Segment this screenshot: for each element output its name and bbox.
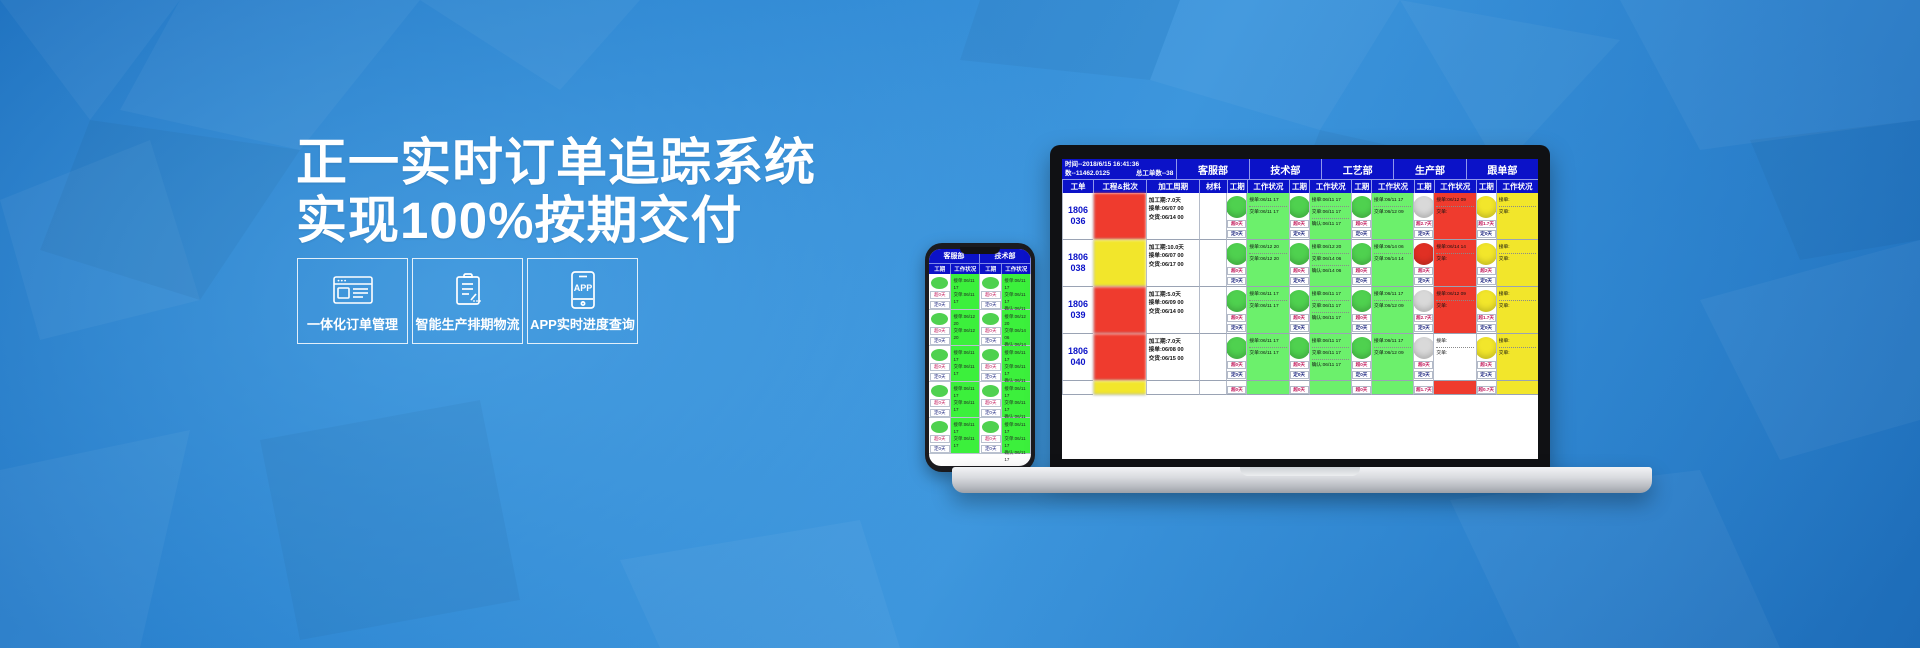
duration-cell: 超0.7天定1天 — [1476, 381, 1496, 395]
grid-column-label[interactable]: 工程&批次 — [1093, 180, 1146, 193]
cycle-line: 接单:06/08 00 — [1149, 346, 1197, 354]
feature-label: 一体化订单管理 — [307, 314, 398, 333]
duration-cell: 超0天定1天 — [1226, 381, 1246, 395]
status-badge: 超0天 — [1414, 361, 1433, 369]
status-line: 交单:06/12 09 — [1374, 303, 1411, 312]
status-line: 确认:06/11 17 — [1312, 221, 1349, 230]
order-tracking-grid: 时间--2018/6/15 16:41:36 数--11462.0125 总工单… — [1062, 159, 1538, 395]
status-dot-icon — [1289, 196, 1309, 218]
status-line: 交单:06/12 20 — [1249, 256, 1286, 265]
status-badge: 超0天 — [1290, 386, 1309, 394]
duration-cell: 超0天定4天 — [1289, 381, 1309, 395]
status-badge: 定0天 — [1227, 230, 1246, 238]
duration-cell: 超0天定0天 — [1289, 287, 1309, 334]
status-badge: 超3天 — [1414, 267, 1433, 275]
status-line: 交单:06/11 17 — [953, 291, 977, 305]
grid-column-label[interactable]: 工期 — [1476, 180, 1496, 193]
cycle-line: 加工期:7.0天 — [1149, 338, 1197, 346]
status-badge: 超0天 — [1352, 220, 1371, 228]
status-dot-icon — [1226, 243, 1246, 265]
grid-department-header: 客服部技术部工艺部生产部跟单部 — [1176, 159, 1538, 179]
status-line: 交单:06/11 17 — [1312, 209, 1349, 219]
material-cell[interactable] — [1199, 240, 1226, 287]
status-line: 接单: — [1499, 291, 1536, 301]
processing-cycle-cell: 加工期:10.0天接单:06/07 00交货:06/17 00 — [1146, 240, 1199, 287]
status-badge: 超0天 — [1227, 386, 1246, 394]
work-status-cell[interactable]: 接单:06/11 17交单:06/11 17 — [1246, 193, 1288, 240]
status-line: 确认:06/11 17 — [1312, 362, 1349, 371]
cycle-line: 加工期:7.0天 — [1149, 197, 1197, 205]
status-badge: 定0天 — [930, 445, 950, 453]
duration-cell: 超0天定0天 — [1226, 287, 1246, 334]
status-dot-icon — [1476, 196, 1496, 218]
work-status-cell[interactable]: 接单:06/11 17交单:06/12 09 — [1371, 334, 1413, 381]
duration-cell: 超0天定0天 — [1413, 334, 1433, 381]
status-line: 交单:06/11 17 — [1249, 350, 1286, 359]
status-badge: 定0天 — [930, 301, 950, 309]
material-cell[interactable] — [1199, 334, 1226, 381]
status-badge: 定0天 — [1477, 230, 1496, 238]
status-line: 接单:06/11 17 — [1374, 291, 1411, 301]
feature-card-app-progress[interactable]: APP APP实时进度查询 — [527, 258, 638, 344]
project-batch-cell[interactable] — [1093, 240, 1146, 287]
work-status-cell[interactable] — [1309, 381, 1351, 395]
status-badge: 超0天 — [1227, 220, 1246, 228]
work-status-cell[interactable]: 接单:06/12 09交单: — [1433, 193, 1475, 240]
status-badge: 超0天 — [930, 291, 950, 299]
grid-column-label[interactable]: 工期 — [1289, 180, 1309, 193]
status-dot-icon — [1226, 337, 1246, 359]
status-line: 交单:06/12 09 — [1374, 350, 1411, 359]
status-badge: 超0天 — [1227, 267, 1246, 275]
status-badge: 超0天 — [981, 291, 1001, 299]
status-badge: 超0天 — [1352, 267, 1371, 275]
grid-dept-label: 生产部 — [1393, 159, 1465, 179]
work-status-cell[interactable]: 接单:06/11 17交单:06/11 17 — [1246, 287, 1288, 334]
status-dot-icon — [1476, 243, 1496, 265]
status-badge: 定0天 — [981, 409, 1001, 417]
status-badge: 超0天 — [1227, 314, 1246, 322]
workorder-cell[interactable]: 1806040 — [1062, 334, 1093, 381]
grid-column-label[interactable]: 工单 — [1062, 180, 1093, 193]
workorder-cell[interactable] — [1062, 381, 1093, 395]
work-status-cell[interactable]: 接单:06/11 17交单:06/12 09 — [1371, 287, 1413, 334]
status-line: 接单:06/11 17 — [953, 349, 977, 363]
work-status-cell[interactable] — [1246, 381, 1288, 395]
duration-cell: 超0天定0天 — [1351, 287, 1371, 334]
headline-line-2: 实现100%按期交付 — [296, 192, 976, 250]
status-line: 接单:06/11 17 — [1249, 338, 1286, 348]
cycle-line: 交货:06/14 00 — [1149, 308, 1197, 316]
status-dot-icon — [1351, 290, 1371, 312]
work-status-cell[interactable] — [1371, 381, 1413, 395]
status-badge: 超2天 — [1477, 267, 1496, 275]
status-line: 交单:06/12 20 — [953, 327, 977, 341]
status-badge: 定0天 — [981, 445, 1001, 453]
phone-app-icon: APP — [569, 270, 597, 310]
project-batch-cell[interactable] — [1093, 193, 1146, 240]
grid-dept-label: 客服部 — [1176, 159, 1248, 179]
workorder-prefix: 1806 — [1068, 205, 1088, 216]
status-dot-icon — [931, 421, 948, 433]
status-badge: 定0天 — [1290, 277, 1309, 285]
status-line: 交单: — [1499, 350, 1536, 359]
status-badge: 定0天 — [1477, 277, 1496, 285]
status-line: 接单:06/11 17 — [1312, 197, 1349, 207]
grid-total-label: 总工单数--38 — [1136, 169, 1174, 178]
work-status-cell[interactable]: 接单:06/14 14交单: — [1433, 240, 1475, 287]
grid-column-label[interactable]: 工期 — [1351, 180, 1371, 193]
clipboard-icon — [452, 270, 484, 310]
grid-column-label[interactable]: 工作状况 — [1434, 180, 1476, 193]
status-dot-icon — [931, 277, 948, 289]
workorder-prefix: 1806 — [1068, 346, 1088, 357]
cycle-line: 接单:06/07 00 — [1149, 252, 1197, 260]
status-badge: 超0天 — [981, 363, 1001, 371]
status-dot-icon — [1413, 196, 1433, 218]
status-badge: 超0.7天 — [1477, 386, 1496, 394]
status-badge: 超0天 — [1290, 361, 1309, 369]
status-badge: 定0天 — [1414, 371, 1433, 379]
status-line: 接单:06/11 17 — [953, 385, 977, 399]
grid-column-label[interactable]: 工作状况 — [1247, 180, 1289, 193]
status-badge: 定0天 — [930, 373, 950, 381]
status-dot-icon — [1351, 337, 1371, 359]
svg-text:APP: APP — [573, 283, 592, 293]
status-badge: 定0天 — [1352, 371, 1371, 379]
status-badge: 超0天 — [1290, 220, 1309, 228]
duration-cell: 超0天定0天 — [1351, 240, 1371, 287]
work-status-cell[interactable] — [1433, 381, 1475, 395]
phone-sub-label: 工作状况 — [951, 263, 980, 274]
duration-cell: 超0天定1天 — [1351, 381, 1371, 395]
grid-meta: 时间--2018/6/15 16:41:36 数--11462.0125 总工单… — [1062, 159, 1176, 179]
status-dot-icon — [982, 421, 999, 433]
status-dot-icon — [1289, 337, 1309, 359]
phone-duration-cell: 超0天定0天 — [929, 382, 951, 418]
status-line: 接单:06/11 17 — [1374, 197, 1411, 207]
status-line: 确认:06/14 06 — [1312, 268, 1349, 277]
status-badge: 定0天 — [1352, 324, 1371, 332]
workorder-cell[interactable]: 1806036 — [1062, 193, 1093, 240]
feature-card-order-management[interactable]: 一体化订单管理 — [297, 258, 408, 344]
status-dot-icon — [931, 349, 948, 361]
cycle-line: 加工期:5.0天 — [1149, 291, 1197, 299]
status-badge: 定0天 — [1414, 277, 1433, 285]
status-line: 接单: — [1499, 244, 1536, 254]
status-dot-icon — [982, 313, 999, 325]
feature-label: APP实时进度查询 — [530, 314, 635, 333]
status-line: 交单:06/11 17 — [953, 363, 977, 377]
duration-cell: 超1.7天定0天 — [1476, 193, 1496, 240]
status-line: 接单:06/11 17 — [1312, 291, 1349, 301]
work-status-cell[interactable]: 接单:交单: — [1496, 334, 1538, 381]
status-badge: 定0天 — [1290, 371, 1309, 379]
cycle-line: 交货:06/14 00 — [1149, 214, 1197, 222]
status-badge: 定0天 — [930, 337, 950, 345]
status-badge: 定0天 — [1227, 277, 1246, 285]
status-line: 接单:06/11 17 — [953, 277, 977, 291]
duration-cell: 超1.7天定0天 — [1476, 287, 1496, 334]
status-badge: 超0天 — [1352, 361, 1371, 369]
project-batch-cell[interactable] — [1093, 287, 1146, 334]
status-line: 交单:06/11 17 — [1312, 303, 1349, 313]
status-badge: 超0天 — [1352, 314, 1371, 322]
feature-card-production-scheduling[interactable]: 智能生产排期物流 — [412, 258, 523, 344]
status-badge: 定0天 — [1227, 324, 1246, 332]
duration-cell: 超2天定0天 — [1476, 240, 1496, 287]
status-line: 交单:06/11 17 — [1249, 303, 1286, 312]
status-badge: 定0天 — [981, 337, 1001, 345]
status-dot-icon — [1226, 196, 1246, 218]
work-status-cell[interactable]: 接单:06/11 17交单:06/11 17确认:06/11 17 — [1309, 287, 1351, 334]
status-badge: 定0天 — [1477, 324, 1496, 332]
duration-cell: 超0天定0天 — [1351, 334, 1371, 381]
workorder-cell[interactable]: 1806038 — [1062, 240, 1093, 287]
status-badge: 超0天 — [1290, 267, 1309, 275]
window-card-icon — [333, 270, 373, 310]
work-status-cell[interactable]: 接单:06/11 17交单:06/11 17确认:06/11 17 — [1309, 334, 1351, 381]
duration-cell: 超2.7天定0天 — [1413, 193, 1433, 240]
duration-cell: 超0天定0天 — [1289, 334, 1309, 381]
duration-cell: 超3天定0天 — [1413, 240, 1433, 287]
headline-line-1: 正一实时订单追踪系统 — [296, 134, 976, 192]
status-dot-icon — [931, 313, 948, 325]
phone-duration-cell: 超0天定0天 — [929, 346, 951, 382]
grid-time-label: 时间--2018/6/15 16:41:36 — [1065, 160, 1173, 169]
grid-column-label[interactable]: 工作状况 — [1371, 180, 1413, 193]
status-line: 交单:06/11 17 — [1312, 350, 1349, 360]
status-line: 接单:06/12 20 — [953, 313, 977, 327]
duration-cell: 超0天定0天 — [1351, 193, 1371, 240]
processing-cycle-cell — [1146, 381, 1199, 395]
grid-count-label: 数--11462.0125 — [1065, 169, 1110, 178]
status-line: 接单: — [1499, 338, 1536, 348]
status-badge: 定0天 — [1290, 230, 1309, 238]
grid-title-bar: 时间--2018/6/15 16:41:36 数--11462.0125 总工单… — [1062, 159, 1538, 179]
workorder-prefix: 1806 — [1068, 299, 1088, 310]
work-status-cell[interactable]: 接单:06/11 17交单:06/12 09 — [1371, 193, 1413, 240]
material-cell[interactable] — [1199, 287, 1226, 334]
status-badge: 定0天 — [981, 373, 1001, 381]
grid-dept-label: 技术部 — [1249, 159, 1321, 179]
laptop-mockup: 时间--2018/6/15 16:41:36 数--11462.0125 总工单… — [1000, 145, 1600, 505]
status-line: 交单: — [1499, 256, 1536, 265]
duration-cell: 超0天定0天 — [1226, 240, 1246, 287]
status-line: 接单:06/12 09 — [1436, 197, 1473, 207]
status-badge: 超0天 — [1227, 361, 1246, 369]
status-dot-icon — [1351, 196, 1371, 218]
status-line: 交单: — [1436, 209, 1473, 218]
status-line: 交单:06/12 09 — [1374, 209, 1411, 218]
duration-cell: 超1天定1天 — [1476, 334, 1496, 381]
material-cell[interactable] — [1199, 193, 1226, 240]
work-status-cell[interactable]: 接单:交单: — [1496, 287, 1538, 334]
workorder-number: 036 — [1070, 216, 1085, 227]
status-dot-icon — [931, 385, 948, 397]
status-badge: 超2.7天 — [1414, 314, 1433, 322]
cycle-line: 接单:06/09 00 — [1149, 299, 1197, 307]
work-status-cell[interactable]: 接单:06/12 20交单:06/14 06确认:06/14 06 — [1309, 240, 1351, 287]
work-status-cell[interactable] — [1496, 381, 1538, 395]
grid-body: 1806036加工期:7.0天接单:06/07 00交货:06/14 00超0天… — [1062, 193, 1538, 395]
status-badge: 超0天 — [981, 327, 1001, 335]
grid-column-label[interactable]: 加工周期 — [1146, 180, 1199, 193]
status-line: 交单: — [1499, 303, 1536, 312]
status-line: 接单:06/11 17 — [953, 421, 977, 435]
work-status-cell[interactable]: 接单:交单: — [1496, 240, 1538, 287]
duration-cell: 超0天定0天 — [1226, 193, 1246, 240]
grid-dept-label: 跟单部 — [1466, 159, 1538, 179]
duration-cell: 超2.7天定0天 — [1413, 287, 1433, 334]
grid-column-label[interactable]: 工期 — [1414, 180, 1434, 193]
phone-duration-cell: 超0天定0天 — [929, 274, 951, 310]
status-dot-icon — [1226, 290, 1246, 312]
workorder-prefix: 1806 — [1068, 252, 1088, 263]
phone-sub-label: 工期 — [929, 263, 951, 274]
duration-cell: 超0天定0天 — [1226, 334, 1246, 381]
status-line: 接单:06/14 14 — [1436, 244, 1473, 254]
status-dot-icon — [1413, 243, 1433, 265]
cycle-line: 交货:06/17 00 — [1149, 261, 1197, 269]
status-dot-icon — [1289, 290, 1309, 312]
duration-cell: 超0天定0天 — [1289, 193, 1309, 240]
status-line: 接单:06/12 20 — [1312, 244, 1349, 254]
project-batch-cell[interactable] — [1093, 334, 1146, 381]
status-badge: 定0天 — [1352, 230, 1371, 238]
status-badge: 超0天 — [930, 363, 950, 371]
table-row[interactable]: 1806039加工期:5.0天接单:06/09 00交货:06/14 00超0天… — [1062, 287, 1538, 334]
grid-column-label[interactable]: 工期 — [1227, 180, 1247, 193]
status-badge: 定0天 — [981, 301, 1001, 309]
status-line: 交单:06/11 17 — [953, 399, 977, 413]
status-line: 确认:06/11 17 — [1312, 315, 1349, 324]
status-line: 接单: — [1499, 197, 1536, 207]
processing-cycle-cell: 加工期:7.0天接单:06/07 00交货:06/14 00 — [1146, 193, 1199, 240]
status-badge: 超2.7天 — [1414, 220, 1433, 228]
status-badge: 超0天 — [930, 327, 950, 335]
hero-copy: 正一实时订单追踪系统 实现100%按期交付 — [296, 134, 976, 250]
grid-column-label[interactable]: 工作状况 — [1496, 180, 1538, 193]
workorder-number: 038 — [1070, 263, 1085, 274]
status-dot-icon — [982, 349, 999, 361]
work-status-cell[interactable]: 接单:06/12 09交单: — [1433, 287, 1475, 334]
work-status-cell[interactable]: 接单:06/11 17交单:06/11 17确认:06/11 17 — [1309, 193, 1351, 240]
table-row[interactable]: 1806040加工期:7.0天接单:06/08 00交货:06/15 00超0天… — [1062, 334, 1538, 381]
laptop-lid: 时间--2018/6/15 16:41:36 数--11462.0125 总工单… — [1050, 145, 1550, 475]
status-dot-icon — [982, 277, 999, 289]
status-line: 交单: — [1436, 303, 1473, 312]
table-row[interactable]: 1806038加工期:10.0天接单:06/07 00交货:06/17 00超0… — [1062, 240, 1538, 287]
workorder-number: 039 — [1070, 310, 1085, 321]
phone-status-cell: 接单:06/11 17交单:06/11 17 — [951, 382, 980, 418]
feature-list: 一体化订单管理 智能生产排期物流 APP — [297, 258, 639, 344]
status-dot-icon — [1351, 243, 1371, 265]
status-line: 交单:06/11 17 — [953, 435, 977, 449]
status-badge: 超0天 — [930, 435, 950, 443]
work-status-cell[interactable]: 接单:06/11 17交单:06/11 17 — [1246, 334, 1288, 381]
table-row[interactable]: 1806036加工期:7.0天接单:06/07 00交货:06/14 00超0天… — [1062, 193, 1538, 240]
work-status-cell[interactable]: 接单:06/12 20交单:06/12 20 — [1246, 240, 1288, 287]
grid-column-label[interactable]: 工作状况 — [1309, 180, 1351, 193]
work-status-cell[interactable]: 接单:交单: — [1433, 334, 1475, 381]
status-badge: 超0天 — [930, 399, 950, 407]
status-line: 交单:06/11 17 — [1249, 209, 1286, 218]
status-line: 交单: — [1436, 350, 1473, 359]
work-status-cell[interactable]: 接单:交单: — [1496, 193, 1538, 240]
phone-notch — [960, 247, 1000, 254]
processing-cycle-cell: 加工期:7.0天接单:06/08 00交货:06/15 00 — [1146, 334, 1199, 381]
status-line: 交单: — [1499, 209, 1536, 218]
phone-duration-cell: 超0天定0天 — [929, 310, 951, 346]
status-dot-icon — [1476, 337, 1496, 359]
duration-cell: 超0天定0天 — [1289, 240, 1309, 287]
workorder-cell[interactable]: 1806039 — [1062, 287, 1093, 334]
status-dot-icon — [982, 385, 999, 397]
workorder-number: 040 — [1070, 357, 1085, 368]
table-row[interactable]: 超0天定1天超0天定4天超0天定1天超1.7天定1天超0.7天定1天 — [1062, 381, 1538, 395]
status-line: 接单:06/14 06 — [1374, 244, 1411, 254]
grid-column-header: 工单工程&批次加工周期材料工期工作状况工期工作状况工期工作状况工期工作状况工期工… — [1062, 179, 1538, 193]
status-badge: 定0天 — [1290, 324, 1309, 332]
status-line: 接单:06/11 17 — [1249, 197, 1286, 207]
phone-duration-cell: 超0天定0天 — [929, 418, 951, 454]
status-line: 接单: — [1436, 338, 1473, 348]
status-line: 交单:06/14 06 — [1312, 256, 1349, 266]
status-badge: 定1天 — [1477, 371, 1496, 379]
status-badge: 定0天 — [1227, 371, 1246, 379]
laptop-screen[interactable]: 时间--2018/6/15 16:41:36 数--11462.0125 总工单… — [1062, 159, 1538, 459]
status-badge: 超1天 — [1477, 361, 1496, 369]
status-badge: 超1.7天 — [1477, 220, 1496, 228]
work-status-cell[interactable]: 接单:06/14 06交单:06/14 14 — [1371, 240, 1413, 287]
grid-column-label[interactable]: 材料 — [1199, 180, 1226, 193]
status-badge: 超0天 — [1290, 314, 1309, 322]
status-line: 接单:06/11 17 — [1312, 338, 1349, 348]
material-cell[interactable] — [1199, 381, 1226, 395]
cycle-line: 交货:06/15 00 — [1149, 355, 1197, 363]
status-line: 交单: — [1436, 256, 1473, 265]
phone-status-cell: 接单:06/12 20交单:06/12 20 — [951, 310, 980, 346]
status-badge: 定0天 — [930, 409, 950, 417]
laptop-hinge-notch — [1240, 467, 1360, 476]
cycle-line: 加工期:10.0天 — [1149, 244, 1197, 252]
project-batch-cell[interactable] — [1093, 381, 1146, 395]
processing-cycle-cell: 加工期:5.0天接单:06/09 00交货:06/14 00 — [1146, 287, 1199, 334]
status-badge: 超1.7天 — [1477, 314, 1496, 322]
status-line: 接单:06/11 17 — [1374, 338, 1411, 348]
status-badge: 超0天 — [981, 399, 1001, 407]
status-badge: 超0天 — [981, 435, 1001, 443]
status-line: 接单:06/12 09 — [1436, 291, 1473, 301]
status-dot-icon — [1413, 337, 1433, 359]
status-badge: 定0天 — [1414, 230, 1433, 238]
status-line: 接单:06/11 17 — [1249, 291, 1286, 301]
status-badge: 超0天 — [1352, 386, 1371, 394]
cycle-line: 接单:06/07 00 — [1149, 205, 1197, 213]
status-badge: 定0天 — [1352, 277, 1371, 285]
status-badge: 超1.7天 — [1414, 386, 1433, 394]
phone-status-cell: 接单:06/11 17交单:06/11 17 — [951, 346, 980, 382]
duration-cell: 超1.7天定1天 — [1413, 381, 1433, 395]
status-badge: 定0天 — [1414, 324, 1433, 332]
phone-status-cell: 接单:06/11 17交单:06/11 17 — [951, 418, 980, 454]
status-line: 交单:06/14 14 — [1374, 256, 1411, 265]
phone-status-cell: 接单:06/11 17交单:06/11 17 — [951, 274, 980, 310]
status-line: 接单:06/12 20 — [1249, 244, 1286, 254]
grid-dept-label: 工艺部 — [1321, 159, 1393, 179]
status-dot-icon — [1476, 290, 1496, 312]
